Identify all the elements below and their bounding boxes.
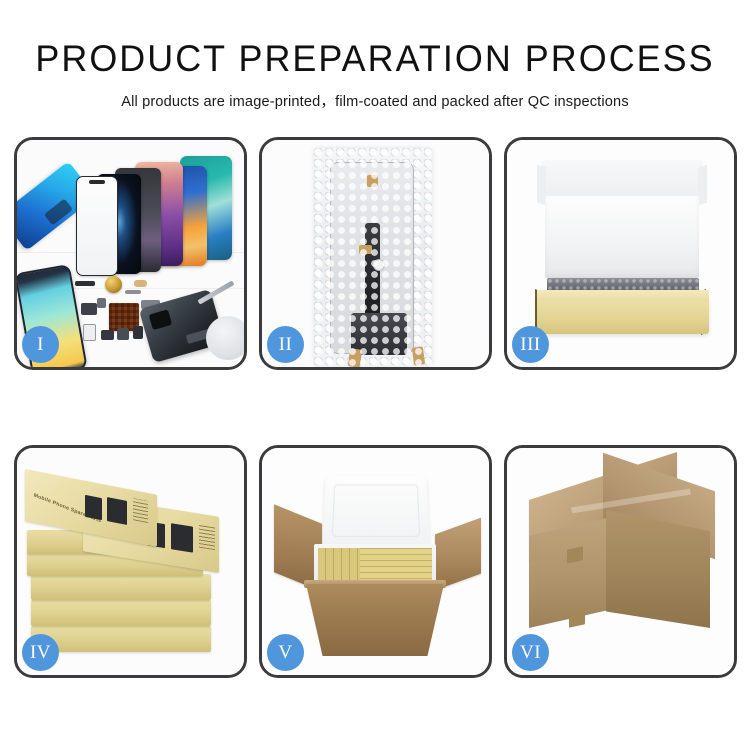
stacked-box (31, 574, 211, 600)
glass-protector-icon (76, 176, 118, 276)
yellow-boxes-row-icon (360, 548, 432, 584)
foam-sheet-icon (545, 196, 699, 278)
stacked-box (31, 600, 211, 626)
bubble-wrap-bag-icon (314, 148, 432, 366)
tape-icon (367, 175, 378, 187)
part-camera-icon (101, 330, 114, 340)
part-cable-icon (125, 290, 141, 294)
camera-hole-icon (373, 259, 385, 271)
step-badge-4: IV (22, 634, 59, 671)
part-module-icon (117, 328, 129, 340)
step-badge-1: I (22, 326, 59, 363)
part-gold-flex-icon (134, 280, 147, 287)
hand-icon (206, 316, 244, 360)
speaker-part-icon (105, 276, 122, 293)
foam-lid-icon (322, 476, 430, 546)
step-panel-2: II (259, 137, 492, 370)
process-steps-grid: I II (14, 137, 736, 678)
part-strip-icon (75, 281, 95, 286)
tape-icon (412, 346, 425, 365)
step-panel-5: V (259, 445, 492, 678)
step-panel-3: III (504, 137, 737, 370)
page-header: PRODUCT PREPARATION PROCESS All products… (0, 0, 750, 111)
yellow-box-front-icon (537, 300, 709, 334)
part-chip-icon (133, 326, 143, 339)
wrapped-part-icon (330, 162, 414, 354)
step-panel-6: VI (504, 445, 737, 678)
page-title: PRODUCT PREPARATION PROCESS (11, 40, 739, 78)
tape-icon (348, 348, 362, 367)
step-panel-4: Mobile Phone Spare Parts Mobile Phone Sp… (14, 445, 247, 678)
step-badge-2: II (267, 326, 304, 363)
step-panel-1: I (14, 137, 247, 370)
part-small-icon (97, 298, 106, 308)
page-subtitle: All products are image-printed，film-coat… (0, 90, 750, 111)
part-sim-tray-icon (83, 324, 96, 341)
part-bracket-icon (81, 303, 97, 315)
carton-face-left-icon (529, 518, 607, 628)
step-badge-5: V (267, 634, 304, 671)
step-badge-3: III (512, 326, 549, 363)
tape-icon (359, 245, 372, 254)
carton-body-icon (306, 584, 444, 656)
step-badge-6: VI (512, 634, 549, 671)
